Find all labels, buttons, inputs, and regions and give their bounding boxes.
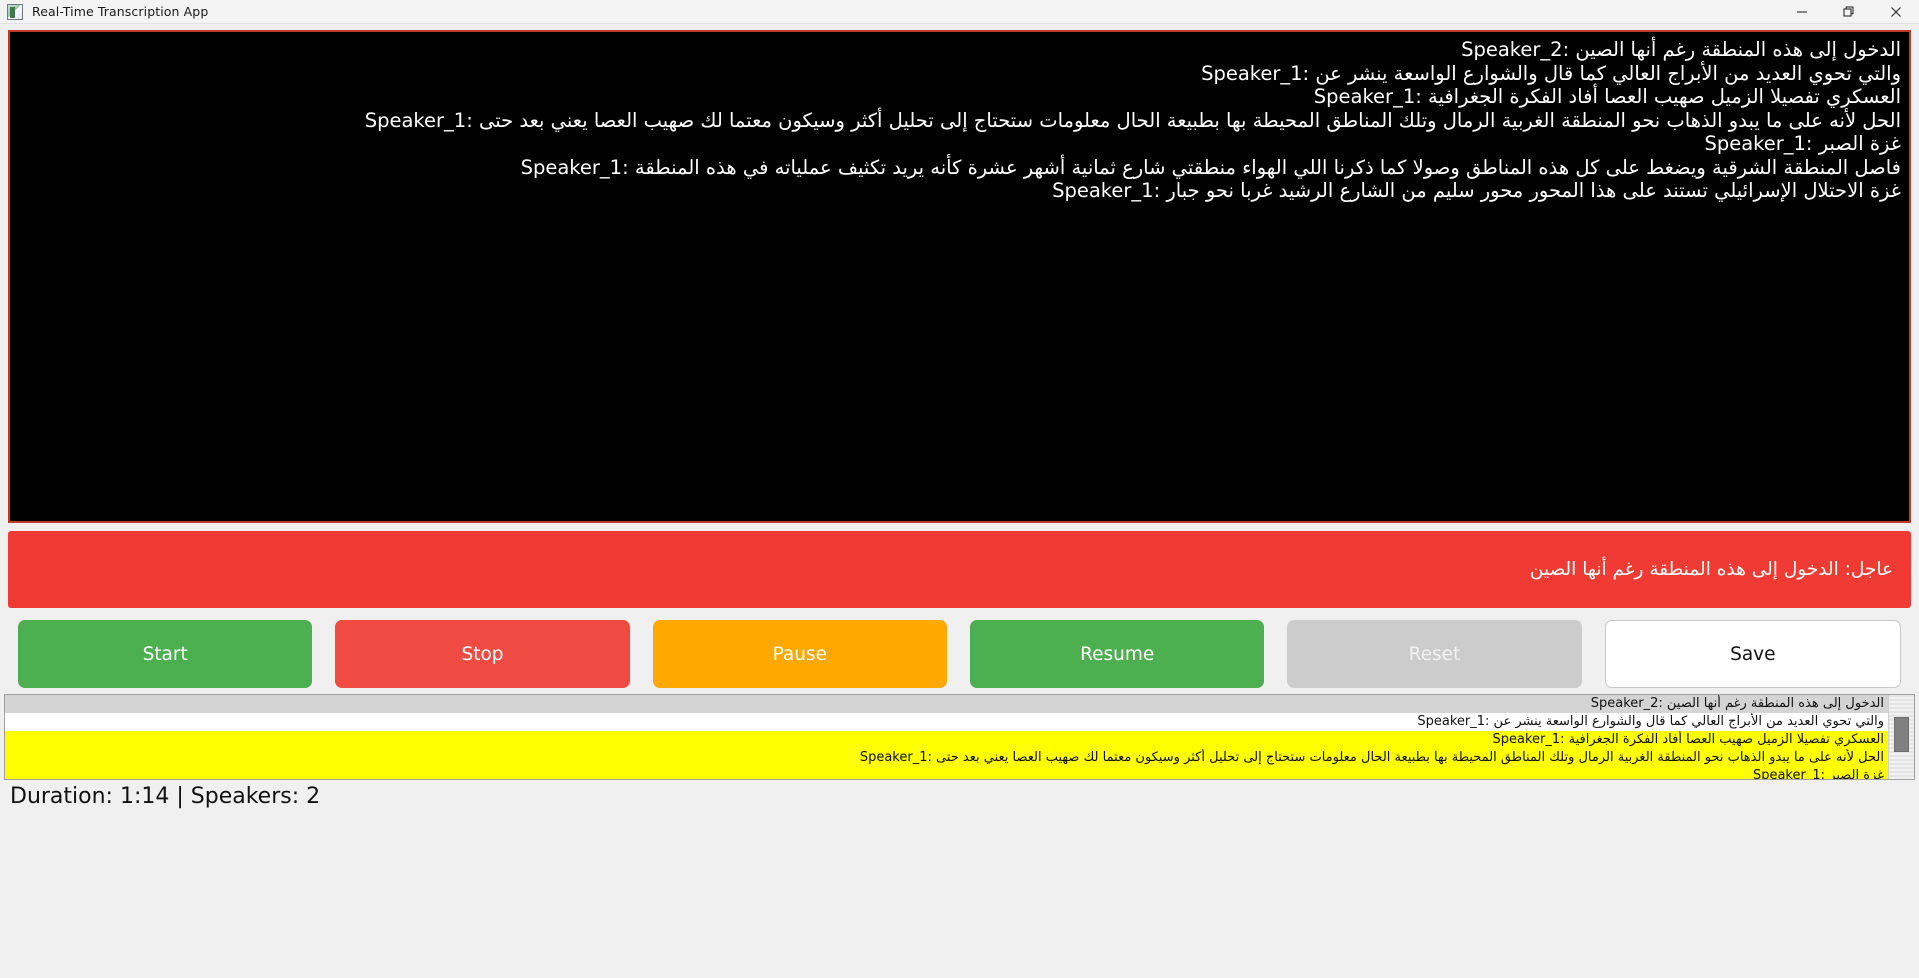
transcript-display[interactable]: Speaker_2: الدخول إلى هذه المنطقة رغم أن… [8,30,1911,523]
stop-button[interactable]: Stop [335,620,629,688]
transcript-line: Speaker_1: الحل لأنه على ما يبدو الذهاب … [18,109,1901,133]
transcript-line: Speaker_1: فاصل المنطقة الشرقية ويضغط عل… [18,156,1901,180]
reset-button: Reset [1287,620,1581,688]
window-controls [1778,0,1919,24]
restore-icon[interactable] [1825,0,1872,24]
alert-banner: عاجل: الدخول إلى هذه المنطقة رغم أنها ال… [8,531,1911,608]
transcript-line: Speaker_1: غزة الاحتلال الإسرائيلي تستند… [18,179,1901,203]
app-icon [7,4,23,20]
start-button[interactable]: Start [18,620,312,688]
transcript-line: Speaker_1: والتي تحوي العديد من الأبراج … [18,62,1901,86]
list-scrollbar-thumb[interactable] [1894,717,1909,752]
window-title: Real-Time Transcription App [32,4,208,19]
list-item[interactable]: Speaker_2: الدخول إلى هذه المنطقة رغم أن… [5,695,1888,713]
transcript-line: Speaker_2: الدخول إلى هذه المنطقة رغم أن… [18,38,1901,62]
close-icon[interactable] [1872,0,1919,24]
list-item[interactable]: Speaker_1: والتي تحوي العديد من الأبراج … [5,713,1888,731]
transcript-line: Speaker_1: العسكري تفصيلا الزميل صهيب ال… [18,85,1901,109]
alert-text: عاجل: الدخول إلى هذه المنطقة رغم أنها ال… [1530,559,1893,580]
list-item[interactable]: Speaker_1: غزة الصبر [5,767,1888,780]
list-item[interactable]: Speaker_1: الحل لأنه على ما يبدو الذهاب … [5,749,1888,767]
minimize-icon[interactable] [1778,0,1825,24]
list-scrollbar[interactable] [1888,695,1914,779]
segment-list[interactable]: مستقل mostaql.com Speaker_2: الدخول إلى … [4,694,1915,780]
transcript-line: Speaker_1: غزة الصبر [18,132,1901,156]
status-text: Duration: 1:14 | Speakers: 2 [10,784,1919,810]
save-button[interactable]: Save [1605,620,1901,688]
control-button-row: Start Stop Pause Resume Reset Save [0,620,1919,688]
title-bar: Real-Time Transcription App [0,0,1919,24]
list-item[interactable]: Speaker_1: العسكري تفصيلا الزميل صهيب ال… [5,731,1888,749]
status-bar: Duration: 1:14 | Speakers: 2 [0,782,1919,978]
resume-button[interactable]: Resume [970,620,1264,688]
pause-button[interactable]: Pause [653,620,947,688]
segment-list-inner: مستقل mostaql.com Speaker_2: الدخول إلى … [5,695,1888,779]
